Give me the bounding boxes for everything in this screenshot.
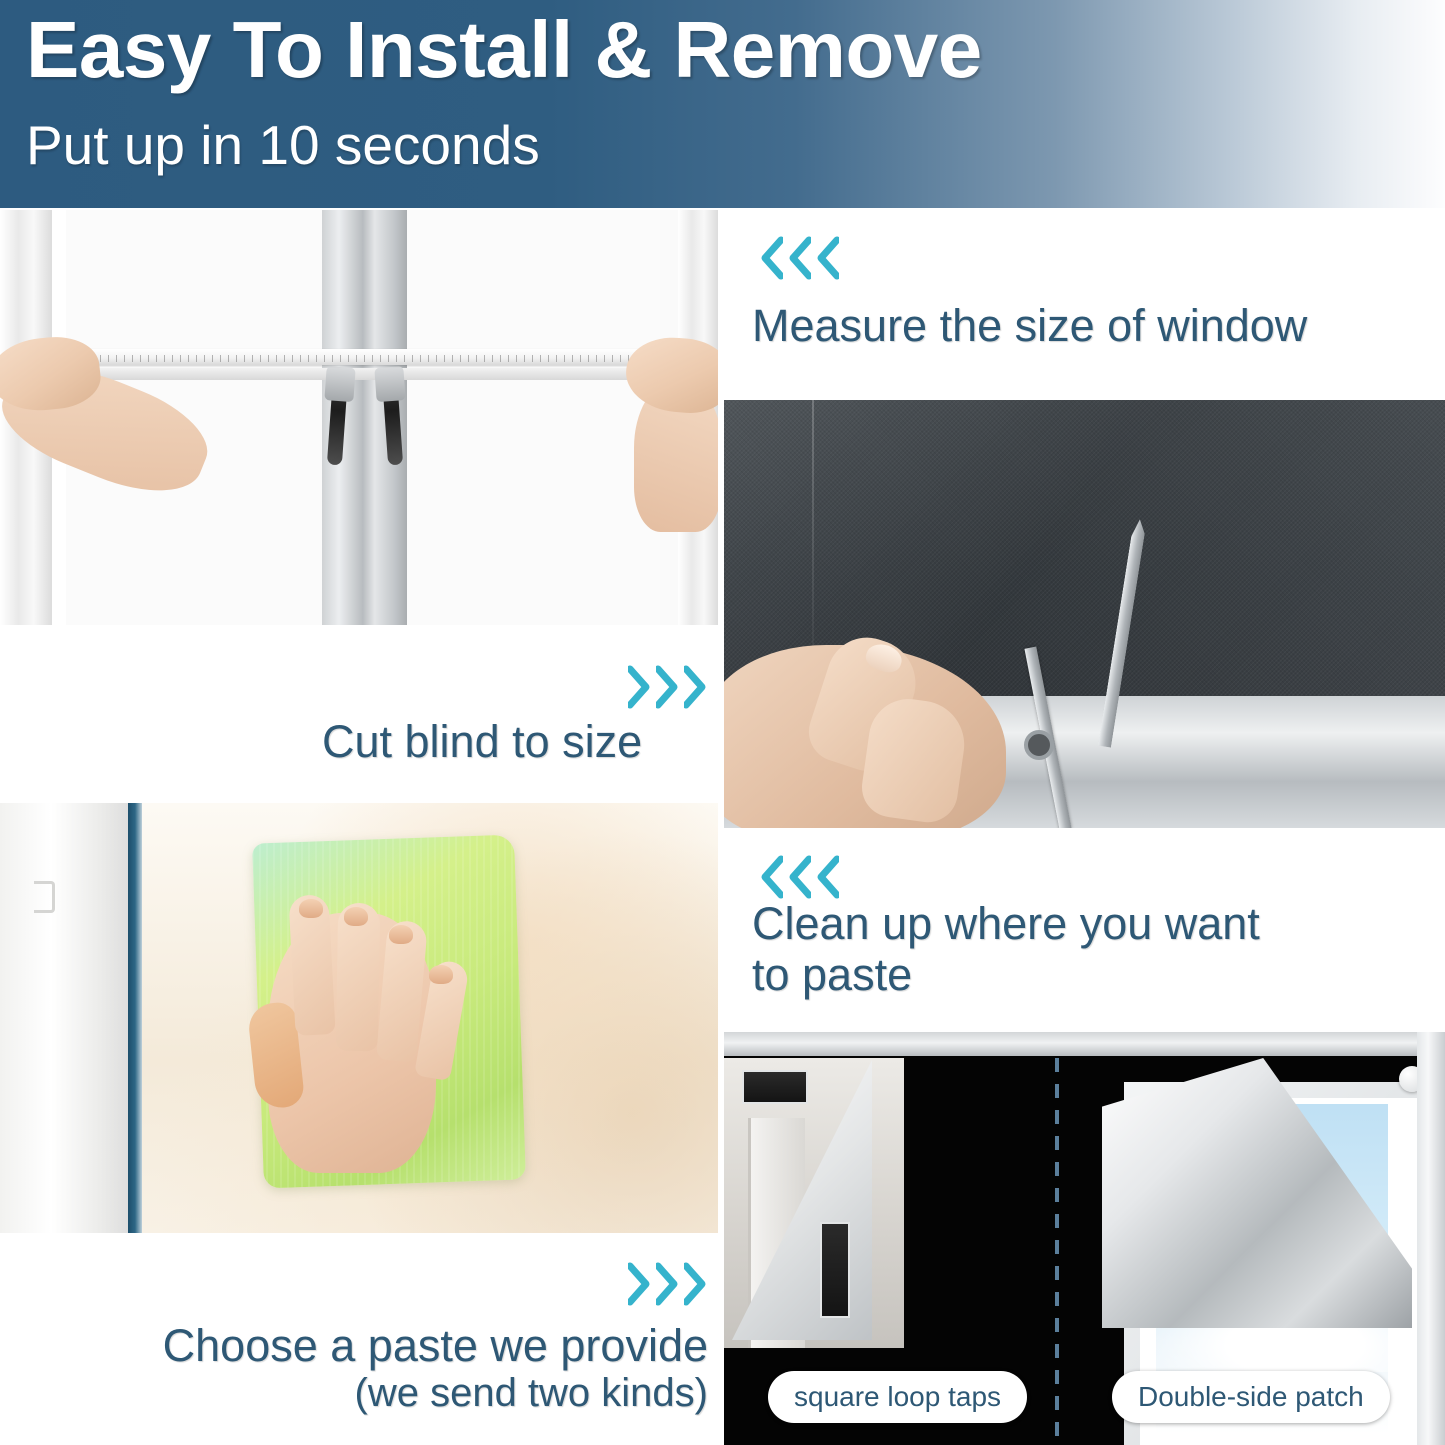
chevron-left-icon [813,236,839,280]
infographic-page: Easy To Install & Remove Put up in 10 se… [0,0,1445,1445]
chevron-right-icon [628,665,654,709]
chevron-left-icon [813,855,839,899]
chevron-left-group-clean [757,855,839,899]
velcro-tab-top [742,1070,808,1104]
chevron-left-group-measure [757,236,839,280]
chevron-right-icon [656,1262,682,1306]
caption-paste-line1: Choose a paste we provide [163,1320,708,1371]
window-latch [34,881,55,913]
header-banner: Easy To Install & Remove Put up in 10 se… [0,0,1445,208]
photo-scissors-cutting-fabric [724,400,1445,828]
photo-window-tape-measure [0,210,718,625]
fingernail-2 [344,907,368,926]
tape-measure-ticks [20,355,700,362]
label-double-side-patch: Double-side patch [1112,1371,1390,1423]
window-frame-blue-edge [128,803,142,1233]
chevron-right-icon [684,665,710,709]
caption-clean-line1: Clean up where you want [752,898,1260,949]
photo-cleaning-window [0,803,718,1233]
chevron-right-group-cut [628,665,710,709]
caption-measure: Measure the size of window [752,300,1307,351]
banner-title: Easy To Install & Remove [26,8,982,92]
scissors-pivot [1024,730,1054,760]
chevron-right-icon [684,1262,710,1306]
chevron-left-icon [757,855,783,899]
window-top-rail [724,1032,1445,1056]
split-divider-dashed [1055,1058,1059,1445]
caption-paste-line2: (we send two kinds) [48,1371,708,1417]
caption-clean: Clean up where you want to paste [752,898,1260,1001]
fingernail-1 [299,899,323,918]
right-hand [623,334,718,417]
fingernail-4 [429,965,453,984]
caption-clean-line2: to paste [752,949,1260,1000]
window-frame-white [0,803,128,1233]
chevron-left-icon [785,236,811,280]
banner-subtitle: Put up in 10 seconds [26,117,540,175]
chevron-right-group-paste [628,1262,710,1306]
chevron-right-icon [628,1262,654,1306]
window-right-jamb [1417,1032,1445,1445]
chevron-left-icon [757,236,783,280]
tape-measure [20,349,700,365]
label-square-loop-taps: square loop taps [768,1371,1027,1423]
velcro-tab-side [820,1222,850,1318]
chevron-left-icon [785,855,811,899]
photo-blind-install-split: square loop taps Double-side patch [724,1032,1445,1445]
fingernail-3 [389,925,413,944]
chevron-right-icon [656,665,682,709]
caption-paste: Choose a paste we provide (we send two k… [48,1320,708,1417]
caption-cut: Cut blind to size [322,716,642,767]
